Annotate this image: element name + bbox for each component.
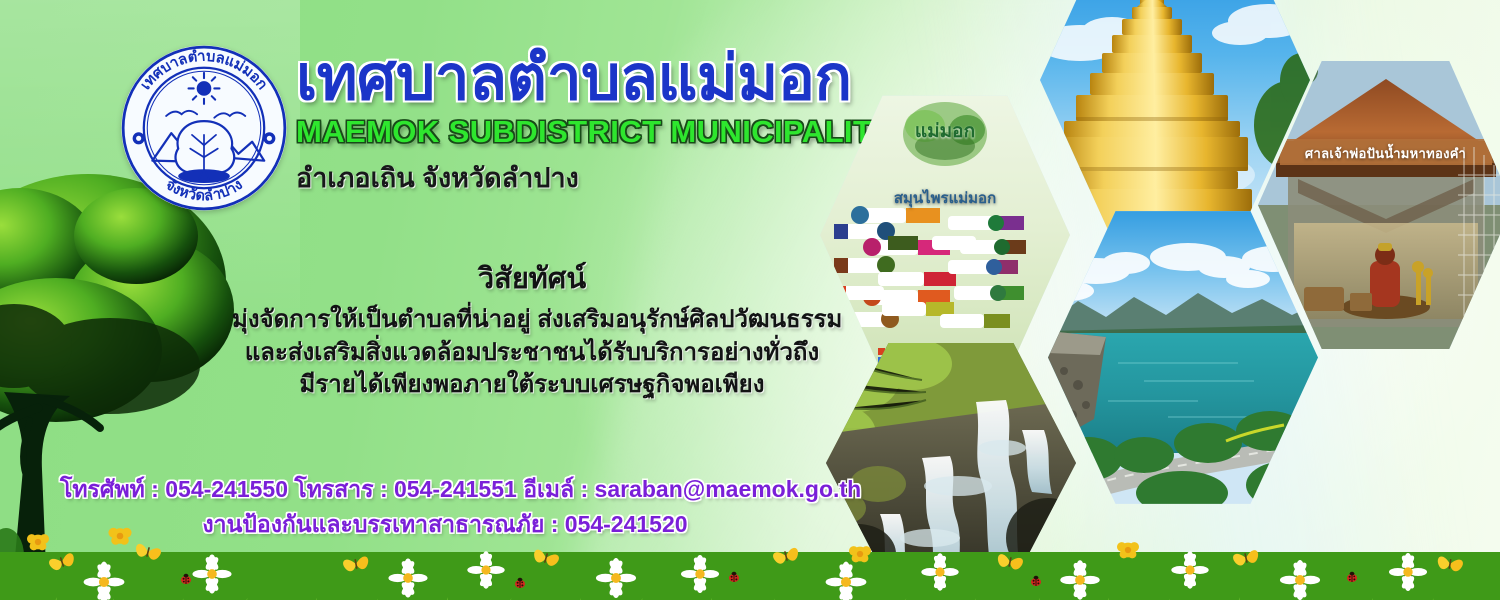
vision-block: วิสัยทัศน์ มุ่งจัดการให้เป็นตำบลที่น่าอย… [232,255,832,402]
municipality-seal: เทศบาลตำบลแม่มอก จังหวัดลำปาง [118,42,290,214]
hex-photo-reservoir-dam[interactable] [1048,205,1318,510]
vision-line-2: และส่งเสริมสิ่งแวดล้อมประชาชนได้รับบริกา… [232,337,832,370]
hex-photo-herbal-poster[interactable]: แม่มอก สมุนไพรแม่มอก [820,90,1070,380]
grass-flower-strip [0,508,1500,600]
vision-line-1: มุ่งจัดการให้เป็นตำบลที่น่าอยู่ ส่งเสริม… [232,304,832,337]
vision-heading: วิสัยทัศน์ [232,255,832,301]
contact-line-phone-fax-email: โทรศัพท์ : 054-241550 โทรสาร : 054-24155… [60,472,830,507]
vision-line-3: มีรายได้เพียงพอภายใต้ระบบเศรษฐกิจพอเพียง [232,369,832,402]
municipality-banner: เทศบาลตำบลแม่มอก จังหวัดลำปาง เทศบาลตำบล… [0,0,1500,600]
